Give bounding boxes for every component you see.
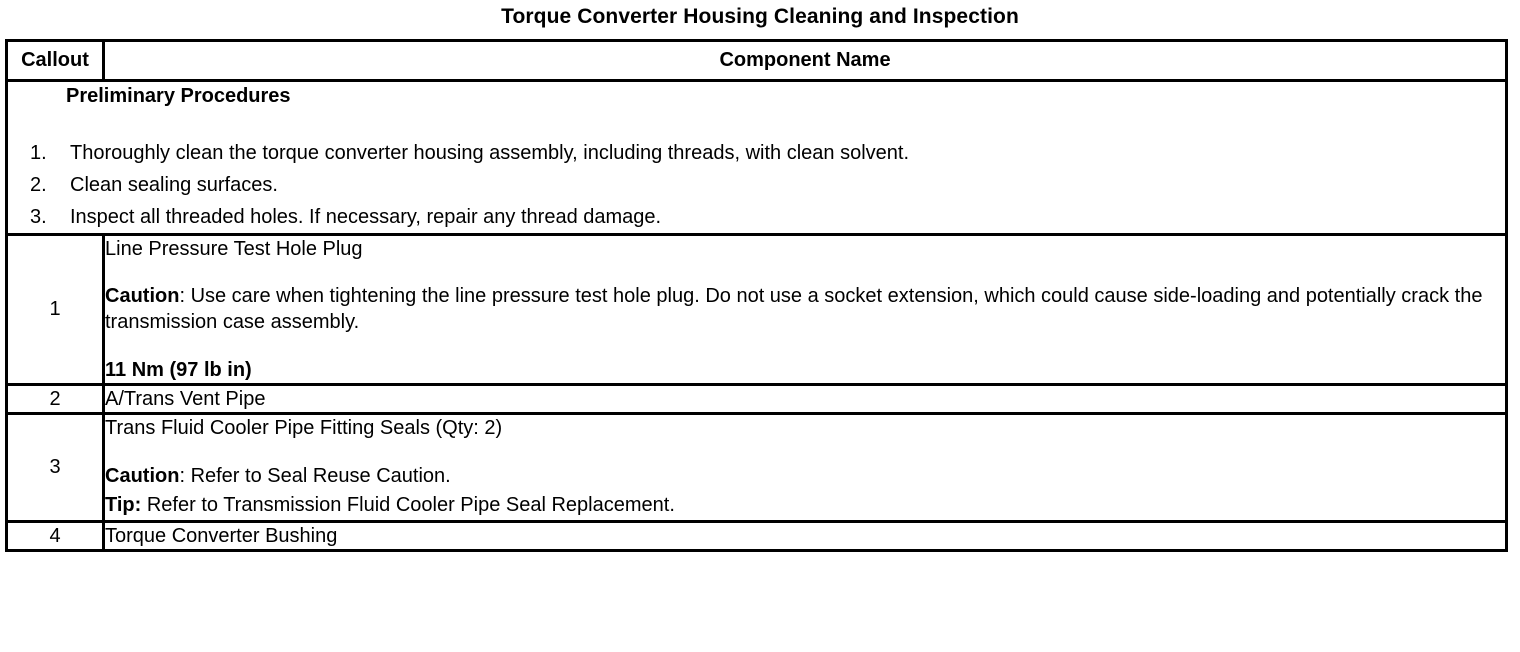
component-cell-1: Line Pressure Test Hole Plug Caution: Us… (104, 235, 1507, 385)
caution-text: Refer to Seal Reuse Caution. (191, 465, 451, 487)
component-cell-2: A/Trans Vent Pipe (104, 385, 1507, 414)
callout-number-2: 2 (7, 385, 104, 414)
caution-separator: : (179, 285, 190, 307)
table-row-preliminary: Preliminary Procedures 1. Thoroughly cle… (7, 81, 1507, 235)
step-text: Thoroughly clean the torque converter ho… (70, 142, 909, 164)
tip-block-3: Tip: Refer to Transmission Fluid Cooler … (105, 491, 1505, 520)
column-header-component-name: Component Name (104, 41, 1507, 81)
preliminary-procedures-heading: Preliminary Procedures (66, 82, 1505, 111)
table-row: 2 A/Trans Vent Pipe (7, 385, 1507, 414)
caution-text: Use care when tightening the line pressu… (105, 285, 1482, 333)
document-page: Torque Converter Housing Cleaning and In… (0, 0, 1520, 652)
component-cell-4: Torque Converter Bushing (104, 522, 1507, 551)
step-number: 2. (30, 169, 47, 201)
component-name-3: Trans Fluid Cooler Pipe Fitting Seals (Q… (105, 415, 1505, 442)
page-title: Torque Converter Housing Cleaning and In… (0, 0, 1520, 27)
preliminary-steps-list: 1. Thoroughly clean the torque converter… (8, 137, 1505, 233)
caution-separator: : (179, 465, 190, 487)
preliminary-procedures-cell: Preliminary Procedures 1. Thoroughly cle… (7, 81, 1507, 235)
tip-text: Refer to Transmission Fluid Cooler Pipe … (141, 494, 675, 516)
table-body: Preliminary Procedures 1. Thoroughly cle… (7, 81, 1507, 551)
component-name-4: Torque Converter Bushing (105, 523, 1505, 549)
callout-number-4: 4 (7, 522, 104, 551)
step-number: 1. (30, 137, 47, 169)
table-header-row: Callout Component Name (7, 41, 1507, 81)
callout-number-3: 3 (7, 414, 104, 522)
step-text: Clean sealing surfaces. (70, 174, 278, 196)
callout-number-1: 1 (7, 235, 104, 385)
component-cell-3: Trans Fluid Cooler Pipe Fitting Seals (Q… (104, 414, 1507, 522)
table-header: Callout Component Name (7, 41, 1507, 81)
list-item: 1. Thoroughly clean the torque converter… (8, 137, 1505, 169)
table-row: 3 Trans Fluid Cooler Pipe Fitting Seals … (7, 414, 1507, 522)
table-row: 1 Line Pressure Test Hole Plug Caution: … (7, 235, 1507, 385)
step-number: 3. (30, 201, 47, 233)
list-item: 2. Clean sealing surfaces. (8, 169, 1505, 201)
component-name-2: A/Trans Vent Pipe (105, 386, 1505, 412)
caution-block-1: Caution: Use care when tightening the li… (105, 283, 1505, 335)
list-item: 3. Inspect all threaded holes. If necess… (8, 201, 1505, 233)
component-callout-table: Callout Component Name Preliminary Proce… (5, 39, 1508, 552)
torque-specification-1: 11 Nm (97 lb in) (105, 357, 1505, 383)
caution-label: Caution (105, 285, 179, 307)
step-text: Inspect all threaded holes. If necessary… (70, 206, 661, 228)
component-name-1: Line Pressure Test Hole Plug (105, 236, 1505, 263)
caution-label: Caution (105, 465, 179, 487)
table-row: 4 Torque Converter Bushing (7, 522, 1507, 551)
tip-label: Tip: (105, 494, 141, 516)
column-header-callout: Callout (7, 41, 104, 81)
caution-block-3: Caution: Refer to Seal Reuse Caution. (105, 462, 1505, 491)
